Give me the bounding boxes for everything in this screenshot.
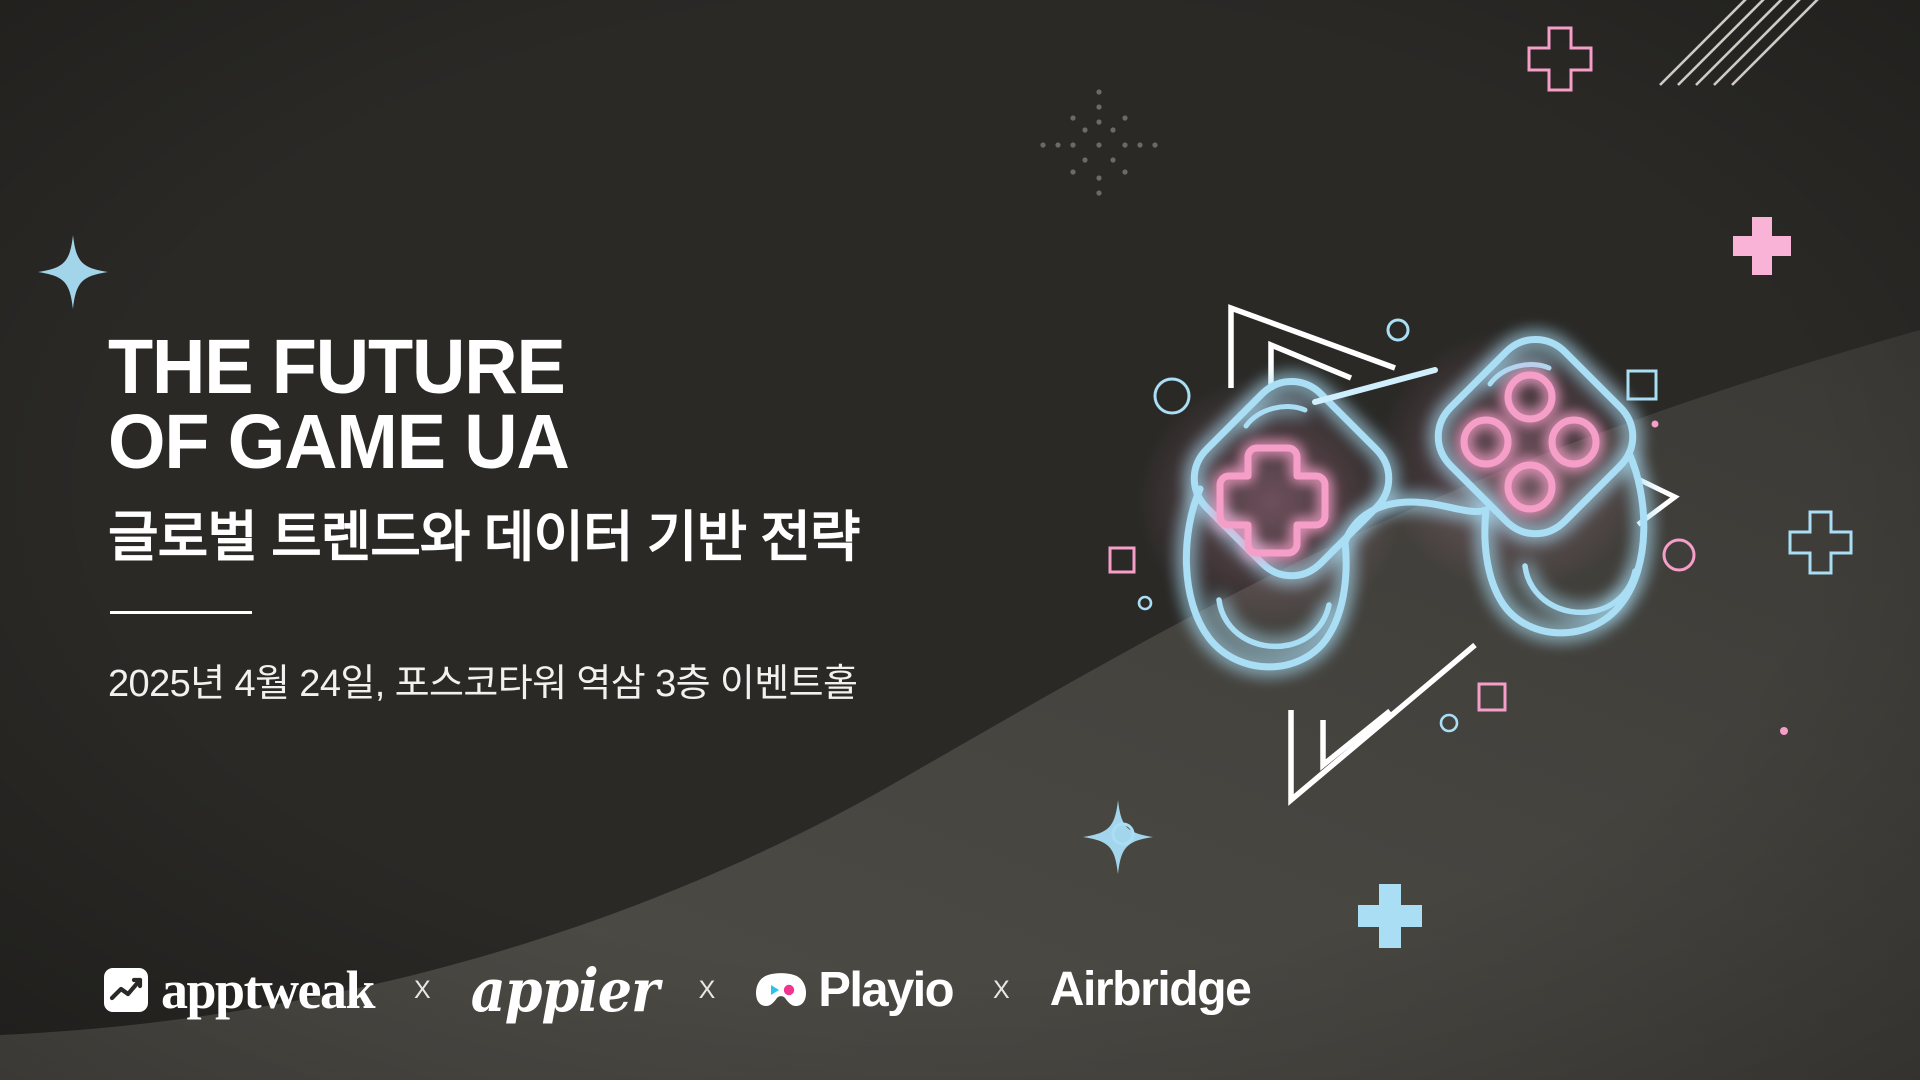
logo-separator: X bbox=[953, 978, 1050, 1003]
page-title: THE FUTURE OF GAME UA bbox=[108, 330, 1068, 481]
logo-airbridge[interactable]: Airbridge bbox=[1050, 960, 1251, 1020]
logo-separator: X bbox=[374, 978, 471, 1003]
event-banner: THE FUTURE OF GAME UA 글로벌 트렌드와 데이터 기반 전략… bbox=[0, 0, 1920, 1080]
logo-playio-label: Playio bbox=[818, 966, 953, 1015]
logo-apptweak-label: apptweak bbox=[161, 963, 374, 1017]
playio-gamepad-mark-icon bbox=[755, 972, 807, 1008]
arrow-decoration-icon bbox=[1291, 645, 1475, 800]
logo-playio[interactable]: Playio bbox=[755, 960, 953, 1020]
logo-appier[interactable]: appier bbox=[471, 960, 659, 1020]
subtitle: 글로벌 트렌드와 데이터 기반 전략 bbox=[108, 507, 1108, 568]
logo-separator: X bbox=[659, 978, 756, 1003]
logo-appier-label: appier bbox=[471, 960, 659, 1019]
neon-gamepad-illustration bbox=[1105, 270, 1705, 810]
divider bbox=[110, 611, 252, 614]
partner-logo-bar: apptweak X appier X Playio X Airbridge bbox=[104, 960, 1250, 1020]
headline-block: THE FUTURE OF GAME UA 글로벌 트렌드와 데이터 기반 전략… bbox=[108, 330, 1108, 707]
datetime-venue: 2025년 4월 24일, 포스코타워 역삼 3층 이벤트홀 bbox=[108, 652, 1108, 707]
logo-apptweak[interactable]: apptweak bbox=[104, 960, 374, 1020]
logo-airbridge-label: Airbridge bbox=[1050, 966, 1251, 1014]
apptweak-chart-mark-icon bbox=[104, 968, 148, 1012]
